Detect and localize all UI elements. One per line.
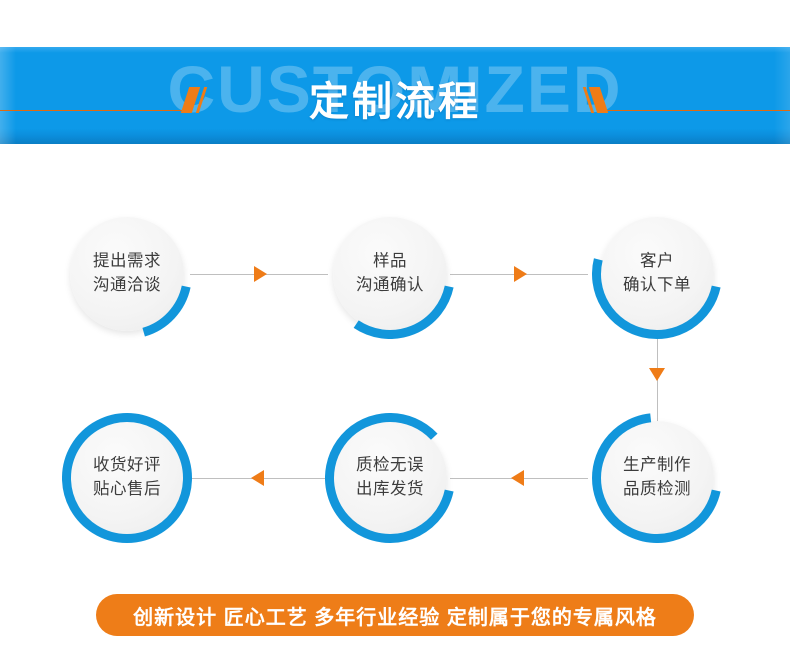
node-label-line1: 样品 bbox=[373, 250, 407, 274]
arrow-4-5 bbox=[511, 470, 524, 486]
node-label-line2: 确认下单 bbox=[623, 274, 691, 298]
node-label: 收货好评 贴心售后 bbox=[62, 413, 192, 543]
node-label-line2: 出库发货 bbox=[356, 478, 424, 502]
process-node-2[interactable]: 样品 沟通确认 bbox=[325, 209, 455, 339]
node-label-line1: 客户 bbox=[640, 250, 674, 274]
node-label-line1: 提出需求 bbox=[93, 250, 161, 274]
node-label-line2: 沟通确认 bbox=[356, 274, 424, 298]
process-node-6[interactable]: 收货好评 贴心售后 bbox=[62, 413, 192, 543]
arrow-1-2 bbox=[254, 266, 267, 282]
node-label: 生产制作 品质检测 bbox=[592, 413, 722, 543]
node-label-line1: 收货好评 bbox=[93, 454, 161, 478]
footer-slogan-text: 创新设计 匠心工艺 多年行业经验 定制属于您的专属风格 bbox=[133, 601, 657, 630]
footer-slogan-banner: 创新设计 匠心工艺 多年行业经验 定制属于您的专属风格 bbox=[96, 594, 694, 636]
node-label-line2: 贴心售后 bbox=[93, 478, 161, 502]
node-label-line1: 质检无误 bbox=[356, 454, 424, 478]
node-label: 提出需求 沟通洽谈 bbox=[62, 209, 192, 339]
arrow-5-6 bbox=[251, 470, 264, 486]
arrow-2-3 bbox=[514, 266, 527, 282]
node-label-line1: 生产制作 bbox=[623, 454, 691, 478]
process-node-4[interactable]: 生产制作 品质检测 bbox=[592, 413, 722, 543]
process-node-1[interactable]: 提出需求 沟通洽谈 bbox=[62, 209, 192, 339]
node-label-line2: 品质检测 bbox=[623, 478, 691, 502]
arrow-3-4 bbox=[649, 368, 665, 381]
node-label-line2: 沟通洽谈 bbox=[93, 274, 161, 298]
node-label: 质检无误 出库发货 bbox=[325, 413, 455, 543]
process-node-5[interactable]: 质检无误 出库发货 bbox=[325, 413, 455, 543]
process-flow-diagram: 提出需求 沟通洽谈 样品 沟通确认 客户 确认下单 生产制作 品质检测 bbox=[0, 144, 790, 574]
node-label: 样品 沟通确认 bbox=[325, 209, 455, 339]
page-title: 定制流程 bbox=[0, 82, 790, 122]
node-label: 客户 确认下单 bbox=[592, 209, 722, 339]
process-node-3[interactable]: 客户 确认下单 bbox=[592, 209, 722, 339]
